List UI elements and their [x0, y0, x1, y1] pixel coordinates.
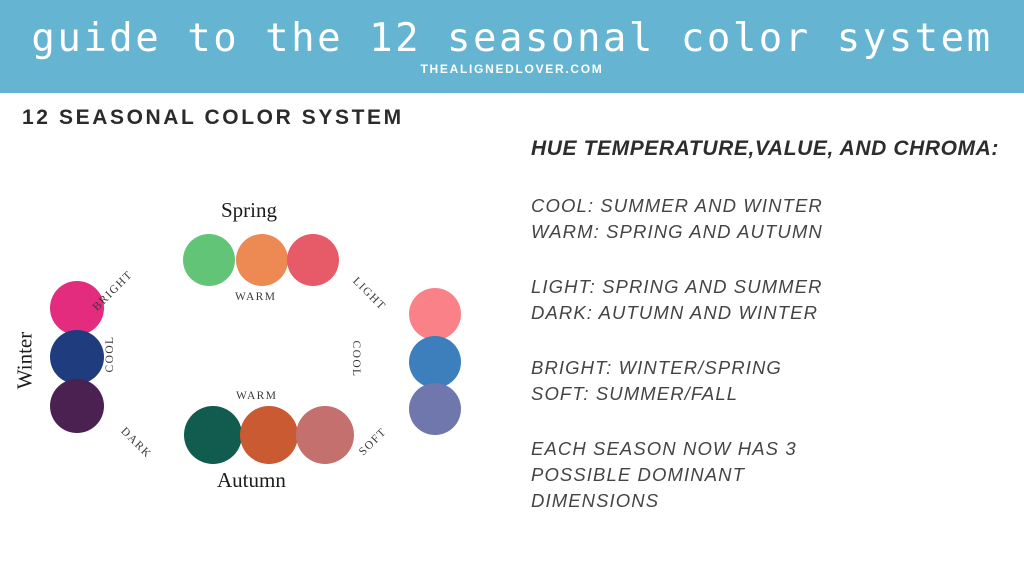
winter-dimension-label: COOL [104, 330, 116, 378]
season-label-winter: Winter [13, 321, 38, 401]
spring-swatch-orange [236, 234, 288, 286]
panel-line: SOFT: SUMMER/FALL [531, 381, 1001, 407]
summer-swatch-periwinkle [409, 383, 461, 435]
autumn-swatch-green [184, 406, 242, 464]
panel-block-temperature: COOL: SUMMER AND WINTER WARM: SPRING AND… [531, 193, 1001, 245]
panel-line: COOL: SUMMER AND WINTER [531, 193, 1001, 219]
spring-swatch-green [183, 234, 235, 286]
panel-line: WARM: SPRING AND AUTUMN [531, 219, 1001, 245]
panel-line: LIGHT: SPRING AND SUMMER [531, 274, 1001, 300]
season-label-autumn: Autumn [217, 468, 286, 493]
spring-dimension-label: WARM [235, 291, 276, 303]
corner-label-light: LIGHT [345, 270, 393, 318]
panel-line: DIMENSIONS [531, 488, 1001, 514]
panel-heading: HUE TEMPERATURE,VALUE, AND CHROMA: [531, 134, 1001, 163]
panel-line: BRIGHT: WINTER/SPRING [531, 355, 1001, 381]
season-label-spring: Spring [221, 198, 277, 223]
panel-block-chroma: BRIGHT: WINTER/SPRING SOFT: SUMMER/FALL [531, 355, 1001, 407]
panel-block-value: LIGHT: SPRING AND SUMMER DARK: AUTUMN AN… [531, 274, 1001, 326]
autumn-swatch-rose [296, 406, 354, 464]
seasonal-color-wheel: Spring WARM Summer COOL WARM Autumn Wint… [0, 0, 512, 396]
summer-swatch-salmon [409, 288, 461, 340]
spring-swatch-red [287, 234, 339, 286]
autumn-dimension-label: WARM [236, 390, 277, 402]
summer-swatch-blue [409, 336, 461, 388]
winter-swatch-navy [50, 330, 104, 384]
autumn-swatch-rust [240, 406, 298, 464]
summer-dimension-label: COOL [350, 335, 362, 383]
panel-block-summary: EACH SEASON NOW HAS 3 POSSIBLE DOMINANT … [531, 436, 1001, 514]
panel-line: EACH SEASON NOW HAS 3 [531, 436, 1001, 462]
corner-label-dark: DARK [113, 420, 160, 467]
corner-label-soft: SOFT [350, 419, 397, 466]
explanation-panel: HUE TEMPERATURE,VALUE, AND CHROMA: COOL:… [531, 134, 1001, 514]
winter-swatch-plum [50, 379, 104, 433]
panel-line: DARK: AUTUMN AND WINTER [531, 300, 1001, 326]
panel-line: POSSIBLE DOMINANT [531, 462, 1001, 488]
